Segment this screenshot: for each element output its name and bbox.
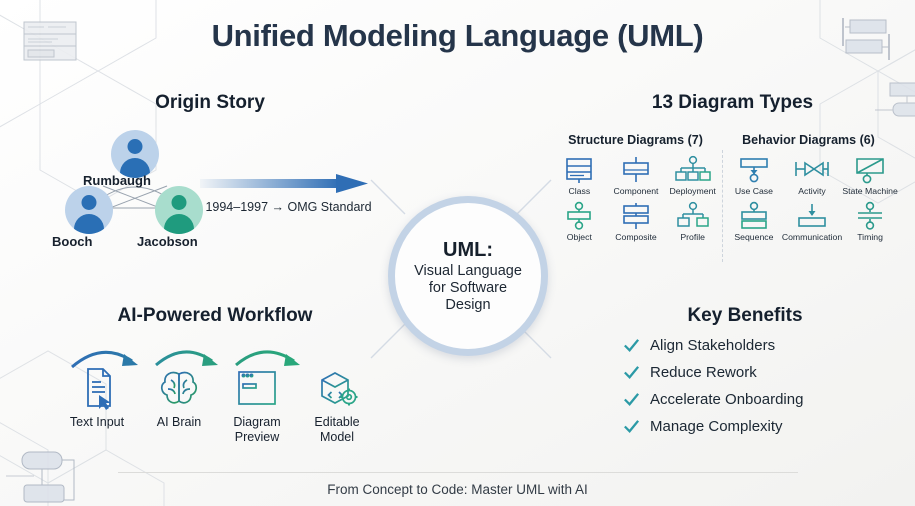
diagram-label: Component [614, 187, 659, 197]
workflow-step-editable-model[interactable]: Editable Model [298, 361, 376, 445]
structure-diagram-grid: Class Component [551, 155, 721, 242]
benefits-heading: Key Benefits [600, 305, 890, 327]
document-cursor-icon [58, 361, 136, 411]
origin-people-group: Rumbaugh Booch Jacobson [55, 130, 215, 250]
person-name-jacobson: Jacobson [137, 234, 198, 249]
activity-icon [790, 155, 834, 185]
footer-tagline: From Concept to Code: Master UML with AI [0, 482, 915, 497]
benefit-item: Manage Complexity [622, 417, 902, 436]
brain-icon [140, 361, 218, 411]
diagram-item-state-machine[interactable]: State Machine [842, 155, 898, 197]
diagram-label: Timing [857, 233, 883, 243]
diagram-label: Use Case [735, 187, 773, 197]
component-icon [619, 155, 653, 185]
infographic-canvas: Unified Modeling Language (UML) Origin S… [0, 0, 915, 506]
diagram-label: State Machine [842, 187, 898, 197]
hub-line-2: for Software [429, 280, 507, 297]
benefit-label: Reduce Rework [650, 364, 757, 381]
code-box-gear-icon [298, 361, 376, 411]
workflow-step-text-input[interactable]: Text Input [58, 361, 136, 430]
diagram-item-use-case[interactable]: Use Case [726, 155, 782, 197]
workflow-step-label: Diagram Preview [218, 415, 296, 445]
timeline-label: 1994–1997 → OMG Standard [196, 200, 381, 214]
diagram-item-class[interactable]: Class [551, 155, 608, 197]
timing-icon [853, 201, 887, 231]
benefit-item: Reduce Rework [622, 363, 902, 382]
column-divider [722, 150, 724, 262]
workflow-heading: AI-Powered Workflow [60, 305, 370, 327]
profile-icon [674, 201, 712, 231]
diagram-label: Sequence [734, 233, 773, 243]
state-machine-icon [849, 155, 891, 185]
hub-line-1: Visual Language [414, 263, 522, 280]
avatar-booch [65, 186, 113, 234]
diagram-item-composite[interactable]: Composite [608, 201, 665, 243]
behavior-diagram-grid: Use Case Activity [726, 155, 898, 242]
diagram-item-sequence[interactable]: Sequence [726, 201, 782, 243]
browser-preview-icon [218, 361, 296, 411]
behavior-column-heading: Behavior Diagrams (6) [726, 133, 891, 147]
diagram-item-timing[interactable]: Timing [842, 201, 898, 243]
diagram-label: Communication [782, 233, 842, 243]
diagram-types-heading: 13 Diagram Types [590, 92, 875, 114]
communication-icon [792, 201, 832, 231]
avatar-rumbaugh [111, 130, 159, 178]
benefits-list: Align Stakeholders Reduce Rework Acceler… [622, 336, 902, 444]
page-title: Unified Modeling Language (UML) [0, 18, 915, 54]
check-icon [622, 363, 641, 382]
workflow-step-label: Text Input [58, 415, 136, 430]
person-name-booch: Booch [52, 234, 92, 249]
diagram-label: Deployment [669, 187, 715, 197]
diagram-item-communication[interactable]: Communication [782, 201, 842, 243]
uml-center-hub: UML: Visual Language for Software Design [388, 196, 548, 356]
workflow-step-diagram-preview[interactable]: Diagram Preview [218, 361, 296, 445]
diagram-item-profile[interactable]: Profile [664, 201, 721, 243]
origin-story-heading: Origin Story [85, 92, 335, 114]
person-name-rumbaugh: Rumbaugh [83, 173, 151, 188]
check-icon [622, 417, 641, 436]
benefit-label: Manage Complexity [650, 418, 783, 435]
footer-divider [118, 472, 798, 473]
hub-line-3: Design [445, 297, 490, 314]
workflow-step-ai-brain[interactable]: AI Brain [140, 361, 218, 430]
benefit-item: Accelerate Onboarding [622, 390, 902, 409]
diagram-item-activity[interactable]: Activity [782, 155, 842, 197]
class-icon [562, 155, 596, 185]
diagram-label: Composite [615, 233, 657, 243]
workflow-group: Text Input [50, 335, 380, 445]
diagram-label: Class [568, 187, 590, 197]
diagram-item-component[interactable]: Component [608, 155, 665, 197]
sequence-icon [736, 201, 772, 231]
workflow-step-label: Editable Model [298, 415, 376, 445]
diagram-label: Object [567, 233, 592, 243]
workflow-step-label: AI Brain [140, 415, 218, 430]
composite-icon [619, 201, 653, 231]
structure-column-heading: Structure Diagrams (7) [553, 133, 718, 147]
diagram-label: Profile [680, 233, 705, 243]
diagram-label: Activity [798, 187, 826, 197]
use-case-icon [736, 155, 772, 185]
benefit-label: Align Stakeholders [650, 337, 775, 354]
diagram-item-deployment[interactable]: Deployment [664, 155, 721, 197]
check-icon [622, 336, 641, 355]
object-icon [562, 201, 596, 231]
benefit-label: Accelerate Onboarding [650, 391, 803, 408]
hub-title: UML: [443, 239, 493, 262]
check-icon [622, 390, 641, 409]
benefit-item: Align Stakeholders [622, 336, 902, 355]
deployment-icon [674, 155, 712, 185]
diagram-item-object[interactable]: Object [551, 201, 608, 243]
right-edge-watermark [875, 83, 915, 116]
